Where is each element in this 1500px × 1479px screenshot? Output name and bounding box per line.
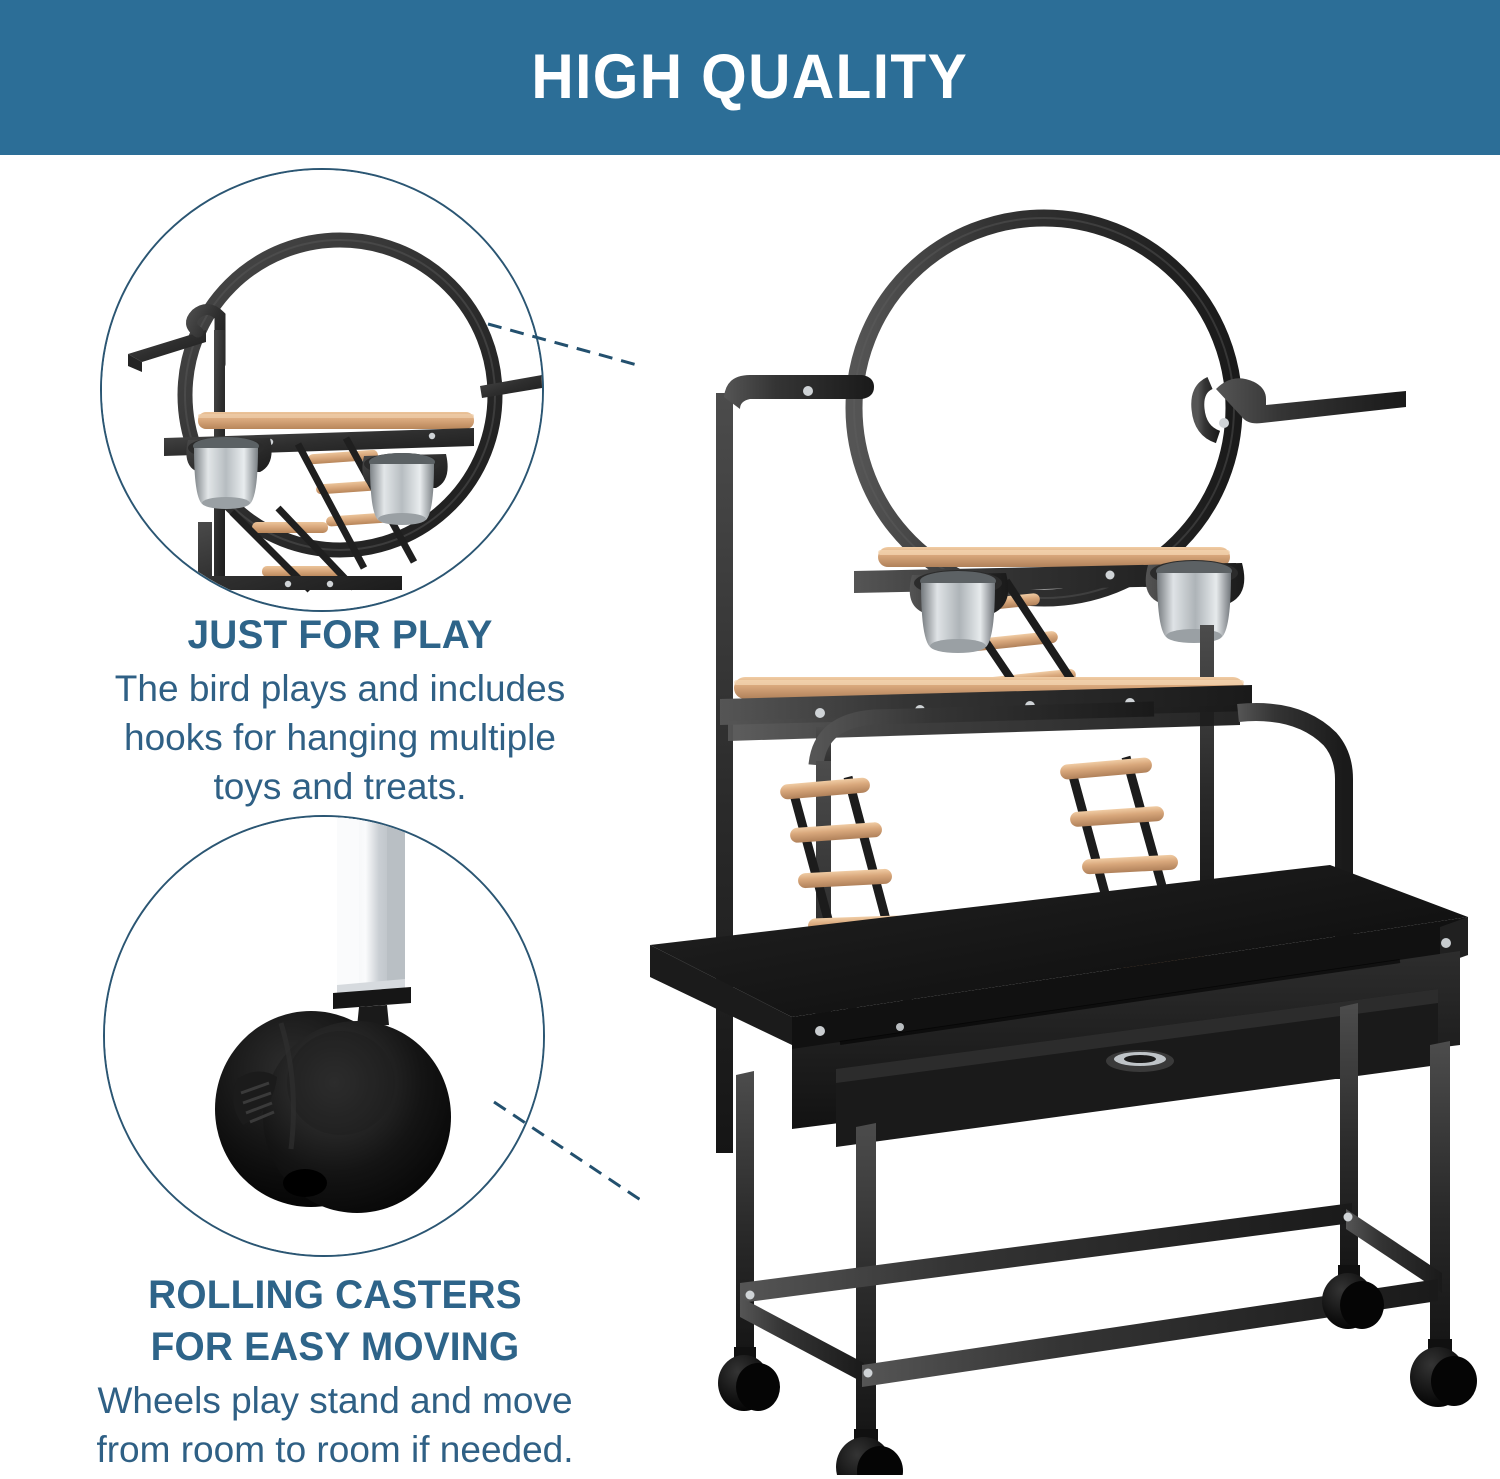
- swivel-caster-detail-icon: [105, 817, 543, 1255]
- infographic-canvas: HIGH QUALITY: [0, 0, 1500, 1479]
- callout-text-rolling-casters: ROLLING CASTERS FOR EASY MOVING Wheels p…: [50, 1272, 620, 1474]
- page-title: HIGH QUALITY: [532, 46, 969, 109]
- product-image-bird-play-stand: [640, 165, 1480, 1475]
- callout-circle-rolling-casters: [103, 815, 545, 1257]
- callout-headline-line-2: FOR EASY MOVING: [59, 1324, 612, 1370]
- callout-body-line-1: Wheels play stand and move: [50, 1376, 620, 1425]
- callout-body-line-1: The bird plays and includes: [60, 664, 620, 713]
- callout-headline-line-1: ROLLING CASTERS: [59, 1272, 612, 1318]
- callout-body-line-3: toys and treats.: [60, 762, 620, 811]
- callout-circle-just-for-play: [100, 168, 544, 612]
- callout-body-line-2: from room to room if needed.: [50, 1425, 620, 1474]
- callout-text-just-for-play: JUST FOR PLAY The bird plays and include…: [60, 612, 620, 811]
- callout-headline-just-for-play: JUST FOR PLAY: [68, 612, 611, 658]
- callout-body-line-2: hooks for hanging multiple: [60, 713, 620, 762]
- header-banner: HIGH QUALITY: [0, 0, 1500, 155]
- hoop-perch-cups-detail-icon: [102, 170, 542, 610]
